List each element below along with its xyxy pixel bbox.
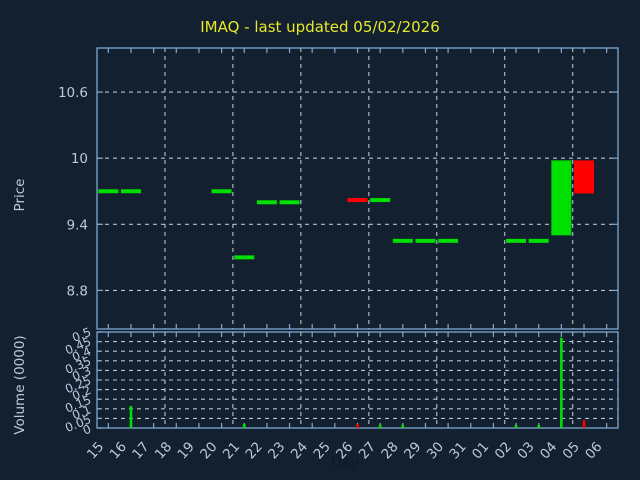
stock-chart-container: IMAQ - last updated 05/02/2026 Price Vol… xyxy=(0,0,640,480)
ohlc-bar-20 xyxy=(212,189,232,193)
volume-bar-05 xyxy=(583,420,586,428)
price-tick-label: 10 xyxy=(71,151,88,167)
price-tick-label: 8.8 xyxy=(67,283,88,299)
volume-bar-16 xyxy=(130,406,133,428)
volume-bar-28 xyxy=(402,425,405,428)
price-tick-label: 10.6 xyxy=(58,85,88,101)
volume-axis-label: Volume (0000) xyxy=(12,335,28,434)
volume-bar-21 xyxy=(243,424,246,428)
ohlc-bar-04 xyxy=(551,160,571,235)
ohlc-bar-30 xyxy=(438,239,458,243)
ohlc-bar-23 xyxy=(280,200,300,204)
ohlc-bar-29 xyxy=(415,239,435,243)
volume-bar-04 xyxy=(560,338,563,428)
ohlc-bar-26 xyxy=(348,198,368,202)
volume-bar-27 xyxy=(379,425,382,428)
ohlc-bar-02 xyxy=(506,239,526,243)
chart-title: IMAQ - last updated 05/02/2026 xyxy=(200,18,440,36)
ohlc-bar-15 xyxy=(98,189,118,193)
ohlc-bar-05 xyxy=(574,160,594,193)
volume-bar-03 xyxy=(537,425,540,428)
ohlc-bar-03 xyxy=(529,239,549,243)
ohlc-bar-22 xyxy=(257,200,277,204)
ohlc-bar-28 xyxy=(393,239,413,243)
volume-bar-26 xyxy=(356,424,359,428)
ohlc-bar-21 xyxy=(234,255,254,259)
chart-canvas: IMAQ - last updated 05/02/2026 Price Vol… xyxy=(0,0,640,480)
ohlc-bar-27 xyxy=(370,198,390,202)
ohlc-bar-16 xyxy=(121,189,141,193)
volume-bar-02 xyxy=(515,425,518,428)
price-tick-label: 9.4 xyxy=(67,217,88,233)
price-axis-label: Price xyxy=(12,179,28,212)
